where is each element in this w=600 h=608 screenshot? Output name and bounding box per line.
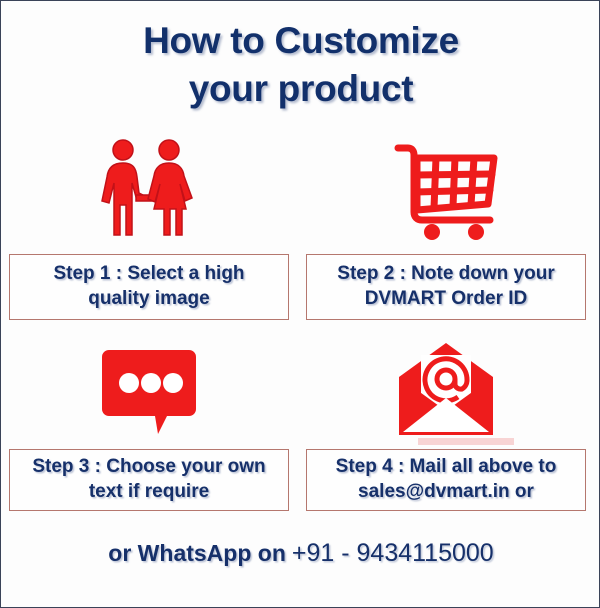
open-envelope-email-icon (306, 337, 586, 441)
step-box-2[interactable]: Step 2 : Note down your DVMART Order ID (306, 254, 586, 320)
step-1-text: Step 1 : Select a high quality image (47, 262, 250, 311)
step-2-line-2: DVMART Order ID (365, 288, 528, 309)
print-artifact (418, 438, 514, 445)
title-line-1: How to Customize (1, 17, 600, 65)
step-box-1[interactable]: Step 1 : Select a high quality image (9, 254, 289, 320)
step-3-line-1: Step 3 : Choose your own (32, 456, 265, 477)
couple-icon (9, 133, 289, 245)
speech-bubble-icon (9, 337, 289, 441)
step-box-4[interactable]: Step 4 : Mail all above to sales@dvmart.… (306, 449, 586, 511)
title-line-2: your product (1, 65, 600, 113)
whatsapp-label: or WhatsApp on (108, 540, 286, 566)
whatsapp-contact-line: or WhatsApp on+91 - 9434115000 (1, 539, 600, 568)
step-2-text: Step 2 : Note down your DVMART Order ID (331, 262, 560, 311)
step-2-line-1: Step 2 : Note down your (337, 263, 554, 284)
step-4-text: Step 4 : Mail all above to sales@dvmart.… (330, 455, 563, 504)
step-4-line-1: Step 4 : Mail all above to (336, 456, 557, 477)
shopping-cart-icon (306, 133, 586, 245)
poster-container: How to Customize your product (0, 0, 600, 608)
step-3-text: Step 3 : Choose your own text if require (26, 455, 271, 504)
page-title: How to Customize your product (1, 17, 600, 113)
step-1-line-1: Step 1 : Select a high (53, 263, 244, 284)
step-3-line-2: text if require (89, 481, 209, 502)
step-1-line-2: quality image (88, 288, 209, 309)
step-4-line-2: sales@dvmart.in or (358, 481, 534, 502)
step-box-3[interactable]: Step 3 : Choose your own text if require (9, 449, 289, 511)
whatsapp-number[interactable]: +91 - 9434115000 (292, 539, 494, 567)
